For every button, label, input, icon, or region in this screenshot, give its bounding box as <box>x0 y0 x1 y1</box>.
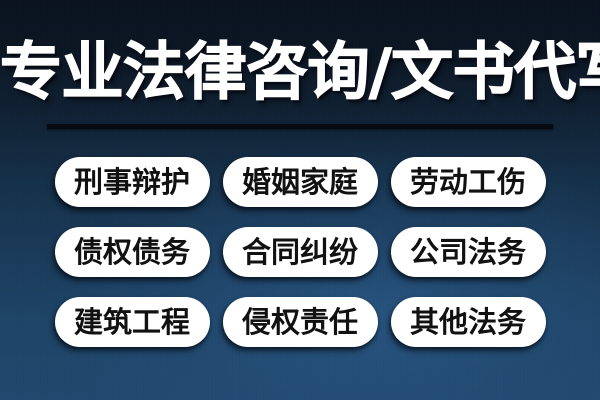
service-pill-marriage-family[interactable]: 婚姻家庭 <box>223 157 378 207</box>
service-pill-label: 债权债务 <box>74 238 190 267</box>
promo-poster: 专业法律咨询/文书代写 刑事辩护 婚姻家庭 劳动工伤 债权债务 合同纠纷 公司法… <box>0 0 600 400</box>
service-pill-criminal-defense[interactable]: 刑事辩护 <box>55 157 210 207</box>
service-pill-label: 劳动工伤 <box>410 168 526 197</box>
service-pill-label: 侵权责任 <box>242 308 358 337</box>
service-pill-other-legal[interactable]: 其他法务 <box>391 297 546 347</box>
service-category-row: 债权债务 合同纠纷 公司法务 <box>0 227 600 277</box>
service-category-row: 刑事辩护 婚姻家庭 劳动工伤 <box>0 157 600 207</box>
service-pill-label: 公司法务 <box>410 238 526 267</box>
title-divider <box>47 124 553 129</box>
service-pill-label: 婚姻家庭 <box>242 168 358 197</box>
service-pill-labor-injury[interactable]: 劳动工伤 <box>391 157 546 207</box>
service-category-row: 建筑工程 侵权责任 其他法务 <box>0 297 600 347</box>
service-pill-construction-engineering[interactable]: 建筑工程 <box>55 297 210 347</box>
service-pill-label: 刑事辩护 <box>74 168 190 197</box>
service-category-list: 刑事辩护 婚姻家庭 劳动工伤 债权债务 合同纠纷 公司法务 建筑工程 <box>0 157 600 347</box>
page-title: 专业法律咨询/文书代写 <box>0 33 600 111</box>
service-pill-corporate-legal[interactable]: 公司法务 <box>391 227 546 277</box>
service-pill-label: 其他法务 <box>410 308 526 337</box>
service-pill-contract-dispute[interactable]: 合同纠纷 <box>223 227 378 277</box>
service-pill-label: 建筑工程 <box>74 308 190 337</box>
service-pill-debt-claims[interactable]: 债权债务 <box>55 227 210 277</box>
service-pill-label: 合同纠纷 <box>242 238 358 267</box>
service-pill-tort-liability[interactable]: 侵权责任 <box>223 297 378 347</box>
